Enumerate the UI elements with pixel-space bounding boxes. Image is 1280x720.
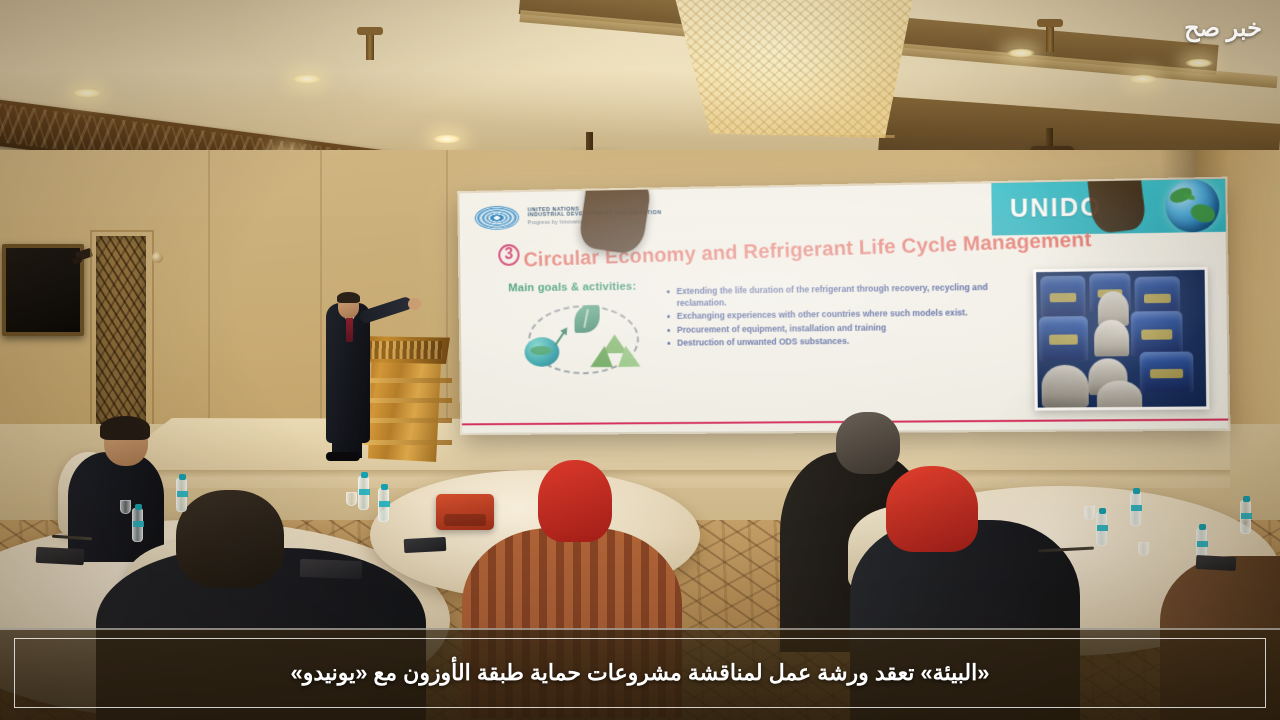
caption-bar: «البيئة» تعقد ورشة عمل لمناقشة مشروعات ح…: [0, 628, 1280, 720]
drinking-glass: [346, 492, 357, 506]
water-bottle: [1130, 492, 1141, 526]
ceiling-mount: [1046, 24, 1054, 52]
ceiling-spotlight: [432, 134, 462, 144]
photo-shading: [1036, 270, 1206, 408]
ceiling-mount: [366, 32, 374, 60]
wall-knob: [152, 252, 163, 263]
audience-member-torso: [68, 452, 164, 562]
caption-top-divider: [0, 628, 1280, 630]
audience-member-hijab: [886, 466, 978, 552]
list-item: Destruction of unwanted ODS substances.: [666, 334, 1005, 349]
globe-icon: [1165, 179, 1219, 233]
audience-member-hijab: [538, 460, 612, 542]
speaker-shoes: [326, 452, 360, 461]
podium-band: [360, 378, 452, 383]
water-bottle: [176, 478, 187, 512]
audience-member-hair: [100, 416, 150, 440]
slide-number-badge: 3: [498, 244, 519, 266]
notepad: [300, 559, 363, 579]
speaker-hand: [408, 298, 421, 310]
podium-band: [360, 418, 452, 423]
wall-display-screen: [2, 244, 84, 336]
unido-emblem-icon: [475, 206, 520, 230]
water-bottle: [358, 476, 369, 510]
speaker-hair: [337, 292, 360, 303]
refrigerant-cylinders-photo: [1033, 267, 1209, 411]
podium-band: [360, 398, 452, 403]
audience-member-head: [176, 490, 284, 588]
water-bottle: [132, 508, 143, 542]
earth-icon: [524, 337, 559, 367]
speaker-tie: [346, 316, 353, 342]
drinking-glass: [120, 500, 131, 514]
projection-screen: UNITED NATIONS INDUSTRIAL DEVELOPMENT OR…: [459, 179, 1228, 433]
watermark: خبر صح: [1184, 14, 1262, 43]
notepad: [1196, 555, 1237, 571]
ceiling-spotlight: [1184, 58, 1214, 68]
ceiling-spotlight: [1006, 48, 1036, 58]
conference-room: UNITED NATIONS INDUSTRIAL DEVELOPMENT OR…: [0, 0, 1280, 720]
audience-member-head: [836, 412, 900, 474]
screenshot-root: UNITED NATIONS INDUSTRIAL DEVELOPMENT OR…: [0, 0, 1280, 720]
caption-text: «البيئة» تعقد ورشة عمل لمناقشة مشروعات ح…: [277, 660, 1004, 686]
notepad: [404, 537, 447, 553]
water-bottle: [1096, 512, 1107, 546]
list-item: Extending the life duration of the refri…: [666, 282, 1005, 309]
drinking-glass: [1138, 542, 1149, 556]
slide-bullet-list: Extending the life duration of the refri…: [666, 282, 1006, 352]
ceiling-spotlight: [72, 88, 102, 98]
caption-frame: «البيئة» تعقد ورشة عمل لمناقشة مشروعات ح…: [14, 638, 1266, 708]
drinking-glass: [1084, 506, 1095, 520]
water-bottle: [378, 488, 389, 522]
water-bottle: [1240, 500, 1251, 534]
main-goals-label: Main goals & activities:: [508, 281, 636, 295]
list-item: Procurement of equipment, installation a…: [666, 321, 1005, 336]
stage-edge-shadow: [80, 470, 1230, 478]
notepad: [36, 547, 85, 565]
circular-economy-diagram: [520, 300, 647, 378]
red-bag: [436, 494, 494, 530]
recycle-icon: [592, 334, 637, 374]
podium-band: [360, 440, 452, 445]
ceiling-spotlight: [292, 74, 322, 84]
ceiling-spotlight: [1128, 74, 1158, 84]
